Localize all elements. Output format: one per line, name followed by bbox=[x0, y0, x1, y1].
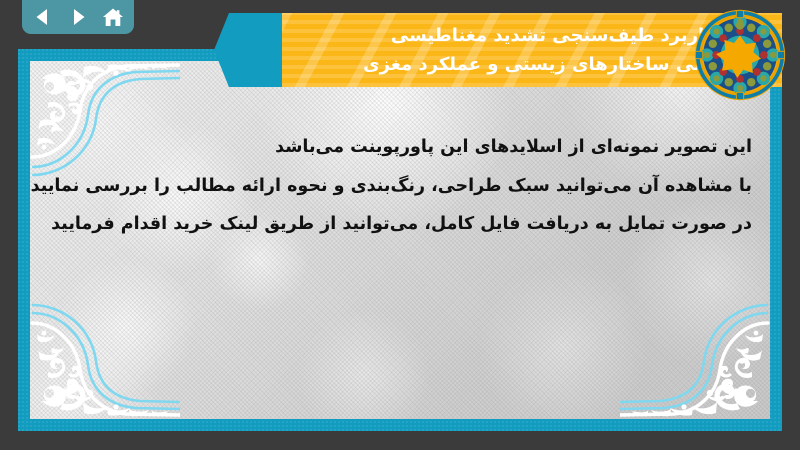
home-icon bbox=[102, 7, 124, 28]
title-line-2: در بررسی ساختارهای زیستی و عملکرد مغزی bbox=[363, 56, 766, 74]
slide-viewer: این تصویر نمونه‌ای از اسلایدهای این پاور… bbox=[0, 0, 800, 450]
banner-arrow-tail bbox=[214, 13, 282, 87]
title-line-1: کامل کاربرد طیف‌سنجی تشدید مغناطیسی bbox=[391, 27, 766, 45]
slide-navigation-bar bbox=[22, 0, 134, 34]
home-button[interactable] bbox=[100, 5, 126, 29]
slide-title-banner: کامل کاربرد طیف‌سنجی تشدید مغناطیسی در ب… bbox=[214, 13, 782, 87]
body-line-1: این تصویر نمونه‌ای از اسلایدهای این پاور… bbox=[52, 139, 752, 157]
body-line-3: در صورت تمایل به دریافت فایل کامل، می‌تو… bbox=[52, 216, 752, 234]
next-slide-button[interactable] bbox=[65, 5, 91, 29]
previous-slide-button[interactable] bbox=[30, 5, 56, 29]
slide-body-text: این تصویر نمونه‌ای از اسلایدهای این پاور… bbox=[52, 139, 752, 255]
banner-title-plate: کامل کاربرد طیف‌سنجی تشدید مغناطیسی در ب… bbox=[282, 13, 782, 87]
slide-content-area: این تصویر نمونه‌ای از اسلایدهای این پاور… bbox=[30, 61, 770, 419]
triangle-left-icon bbox=[33, 7, 53, 27]
slide-frame: این تصویر نمونه‌ای از اسلایدهای این پاور… bbox=[18, 49, 782, 431]
body-line-2: با مشاهده آن می‌توانید سبک طراحی، رنگ‌بن… bbox=[52, 178, 752, 196]
triangle-right-icon bbox=[68, 7, 88, 27]
